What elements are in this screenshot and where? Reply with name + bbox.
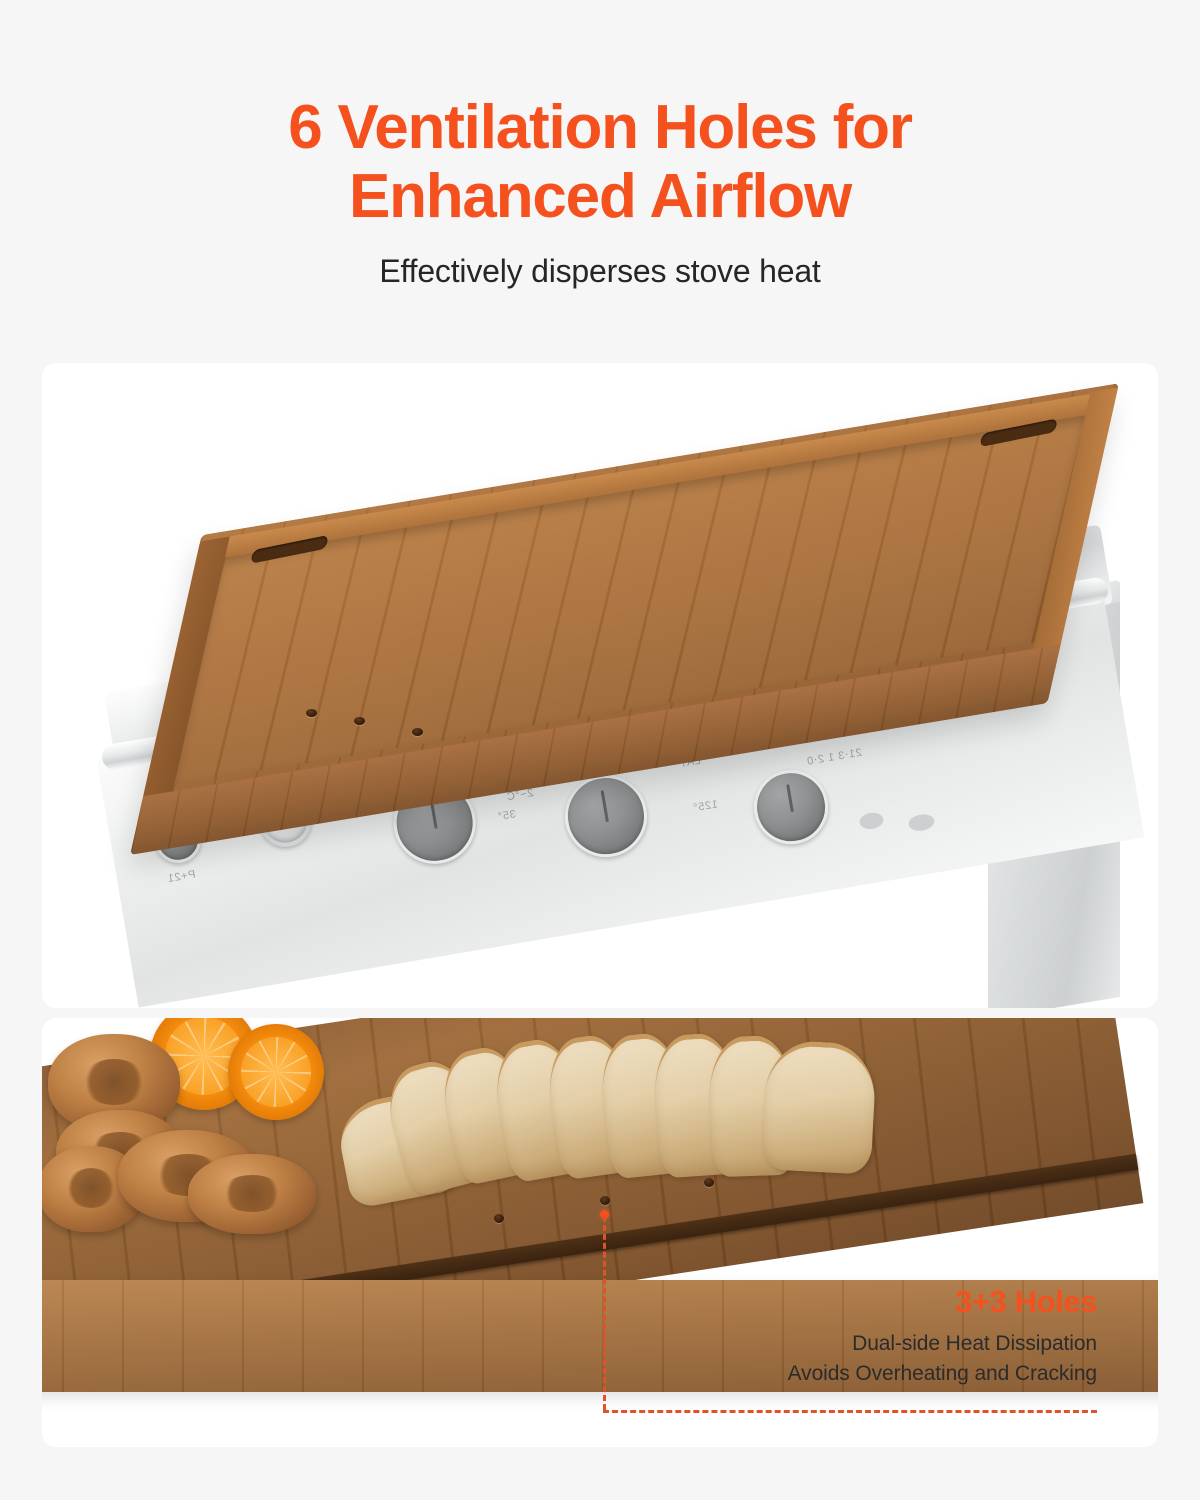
- stove-knob-3[interactable]: [559, 769, 654, 864]
- header: 6 Ventilation Holes for Enhanced Airflow…: [0, 0, 1200, 290]
- knob-label-125: 125°: [692, 798, 719, 814]
- bread-slice-9: [761, 1039, 878, 1175]
- page-title: 6 Ventilation Holes for Enhanced Airflow: [0, 0, 1200, 232]
- top-image-panel: 20128 P+21 TIMER CE 1 IPC 35° 2~°C INU 2…: [42, 363, 1158, 1008]
- bottom-image-panel: 3+3 Holes Dual-side Heat Dissipation Avo…: [42, 1018, 1158, 1447]
- headline-line-1: 6 Ventilation Holes for: [0, 0, 1200, 162]
- vent-hole-3: [412, 728, 423, 736]
- cinnamon-roll-3: [188, 1154, 316, 1234]
- stove-indicator-light-1: [858, 811, 884, 831]
- knob-label-p21: P+21: [166, 868, 196, 885]
- page-subtitle: Effectively disperses stove heat: [0, 253, 1200, 290]
- callout-line-1: Dual-side Heat Dissipation: [587, 1329, 1097, 1359]
- knob-label-numbers: 21⋅3 1 2⋅0: [806, 746, 863, 768]
- vent-hole-4: [494, 1214, 504, 1223]
- stove-indicator-light-2: [907, 813, 935, 833]
- callout-title: 3+3 Holes: [587, 1284, 1097, 1320]
- callout-line-2: Avoids Overheating and Cracking: [587, 1359, 1097, 1389]
- vent-hole-1: [306, 709, 317, 717]
- vent-hole-5: [600, 1196, 610, 1205]
- callout-text-block: 3+3 Holes Dual-side Heat Dissipation Avo…: [587, 1284, 1097, 1389]
- callout-line-horizontal: [603, 1410, 1097, 1413]
- stove-knob-4[interactable]: [748, 764, 833, 849]
- marketing-page: 6 Ventilation Holes for Enhanced Airflow…: [0, 0, 1200, 1500]
- knob-label-35: 35°: [497, 808, 517, 823]
- vent-hole-6: [704, 1178, 714, 1187]
- orange-half-2: [228, 1024, 324, 1120]
- vent-hole-2: [354, 717, 365, 725]
- headline-line-2: Enhanced Airflow: [0, 162, 1200, 231]
- tray-on-stove-scene: 20128 P+21 TIMER CE 1 IPC 35° 2~°C INU 2…: [42, 363, 1158, 1008]
